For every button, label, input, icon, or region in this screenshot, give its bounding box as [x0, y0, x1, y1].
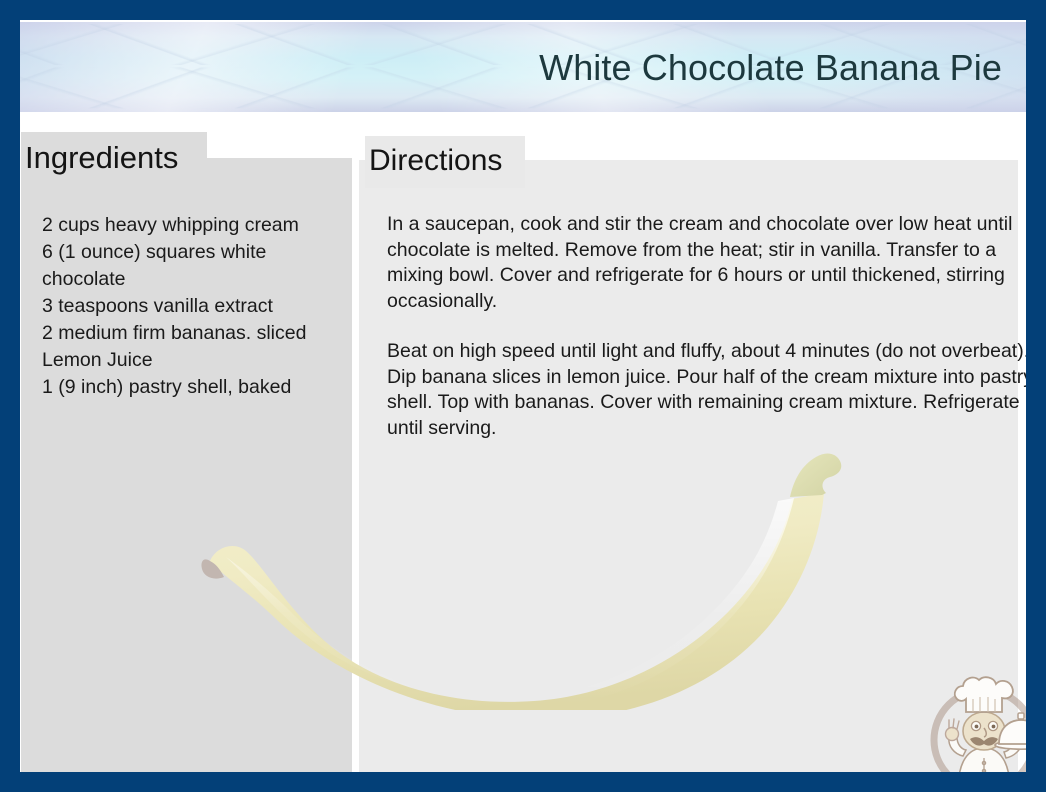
list-item: 6 (1 ounce) squares white chocolate	[42, 239, 347, 293]
page-title: White Chocolate Banana Pie	[539, 46, 1002, 90]
list-item: Lemon Juice	[42, 347, 347, 374]
list-item: 2 cups heavy whipping cream	[42, 212, 347, 239]
directions-header: Directions	[365, 136, 525, 188]
recipe-slide: White Chocolate Banana Pie Ingredients 2…	[0, 0, 1046, 792]
ingredients-header: Ingredients	[21, 132, 207, 186]
directions-paragraph: Beat on high speed until light and fluff…	[387, 339, 1040, 441]
directions-text: In a saucepan, cook and stir the cream a…	[387, 212, 1040, 441]
ingredients-list: 2 cups heavy whipping cream 6 (1 ounce) …	[42, 212, 347, 401]
list-item: 3 teaspoons vanilla extract	[42, 293, 347, 320]
list-item: 1 (9 inch) pastry shell, baked	[42, 374, 347, 401]
title-banner: White Chocolate Banana Pie	[20, 22, 1026, 112]
list-item: 2 medium firm bananas. sliced	[42, 320, 347, 347]
directions-paragraph: In a saucepan, cook and stir the cream a…	[387, 212, 1040, 314]
